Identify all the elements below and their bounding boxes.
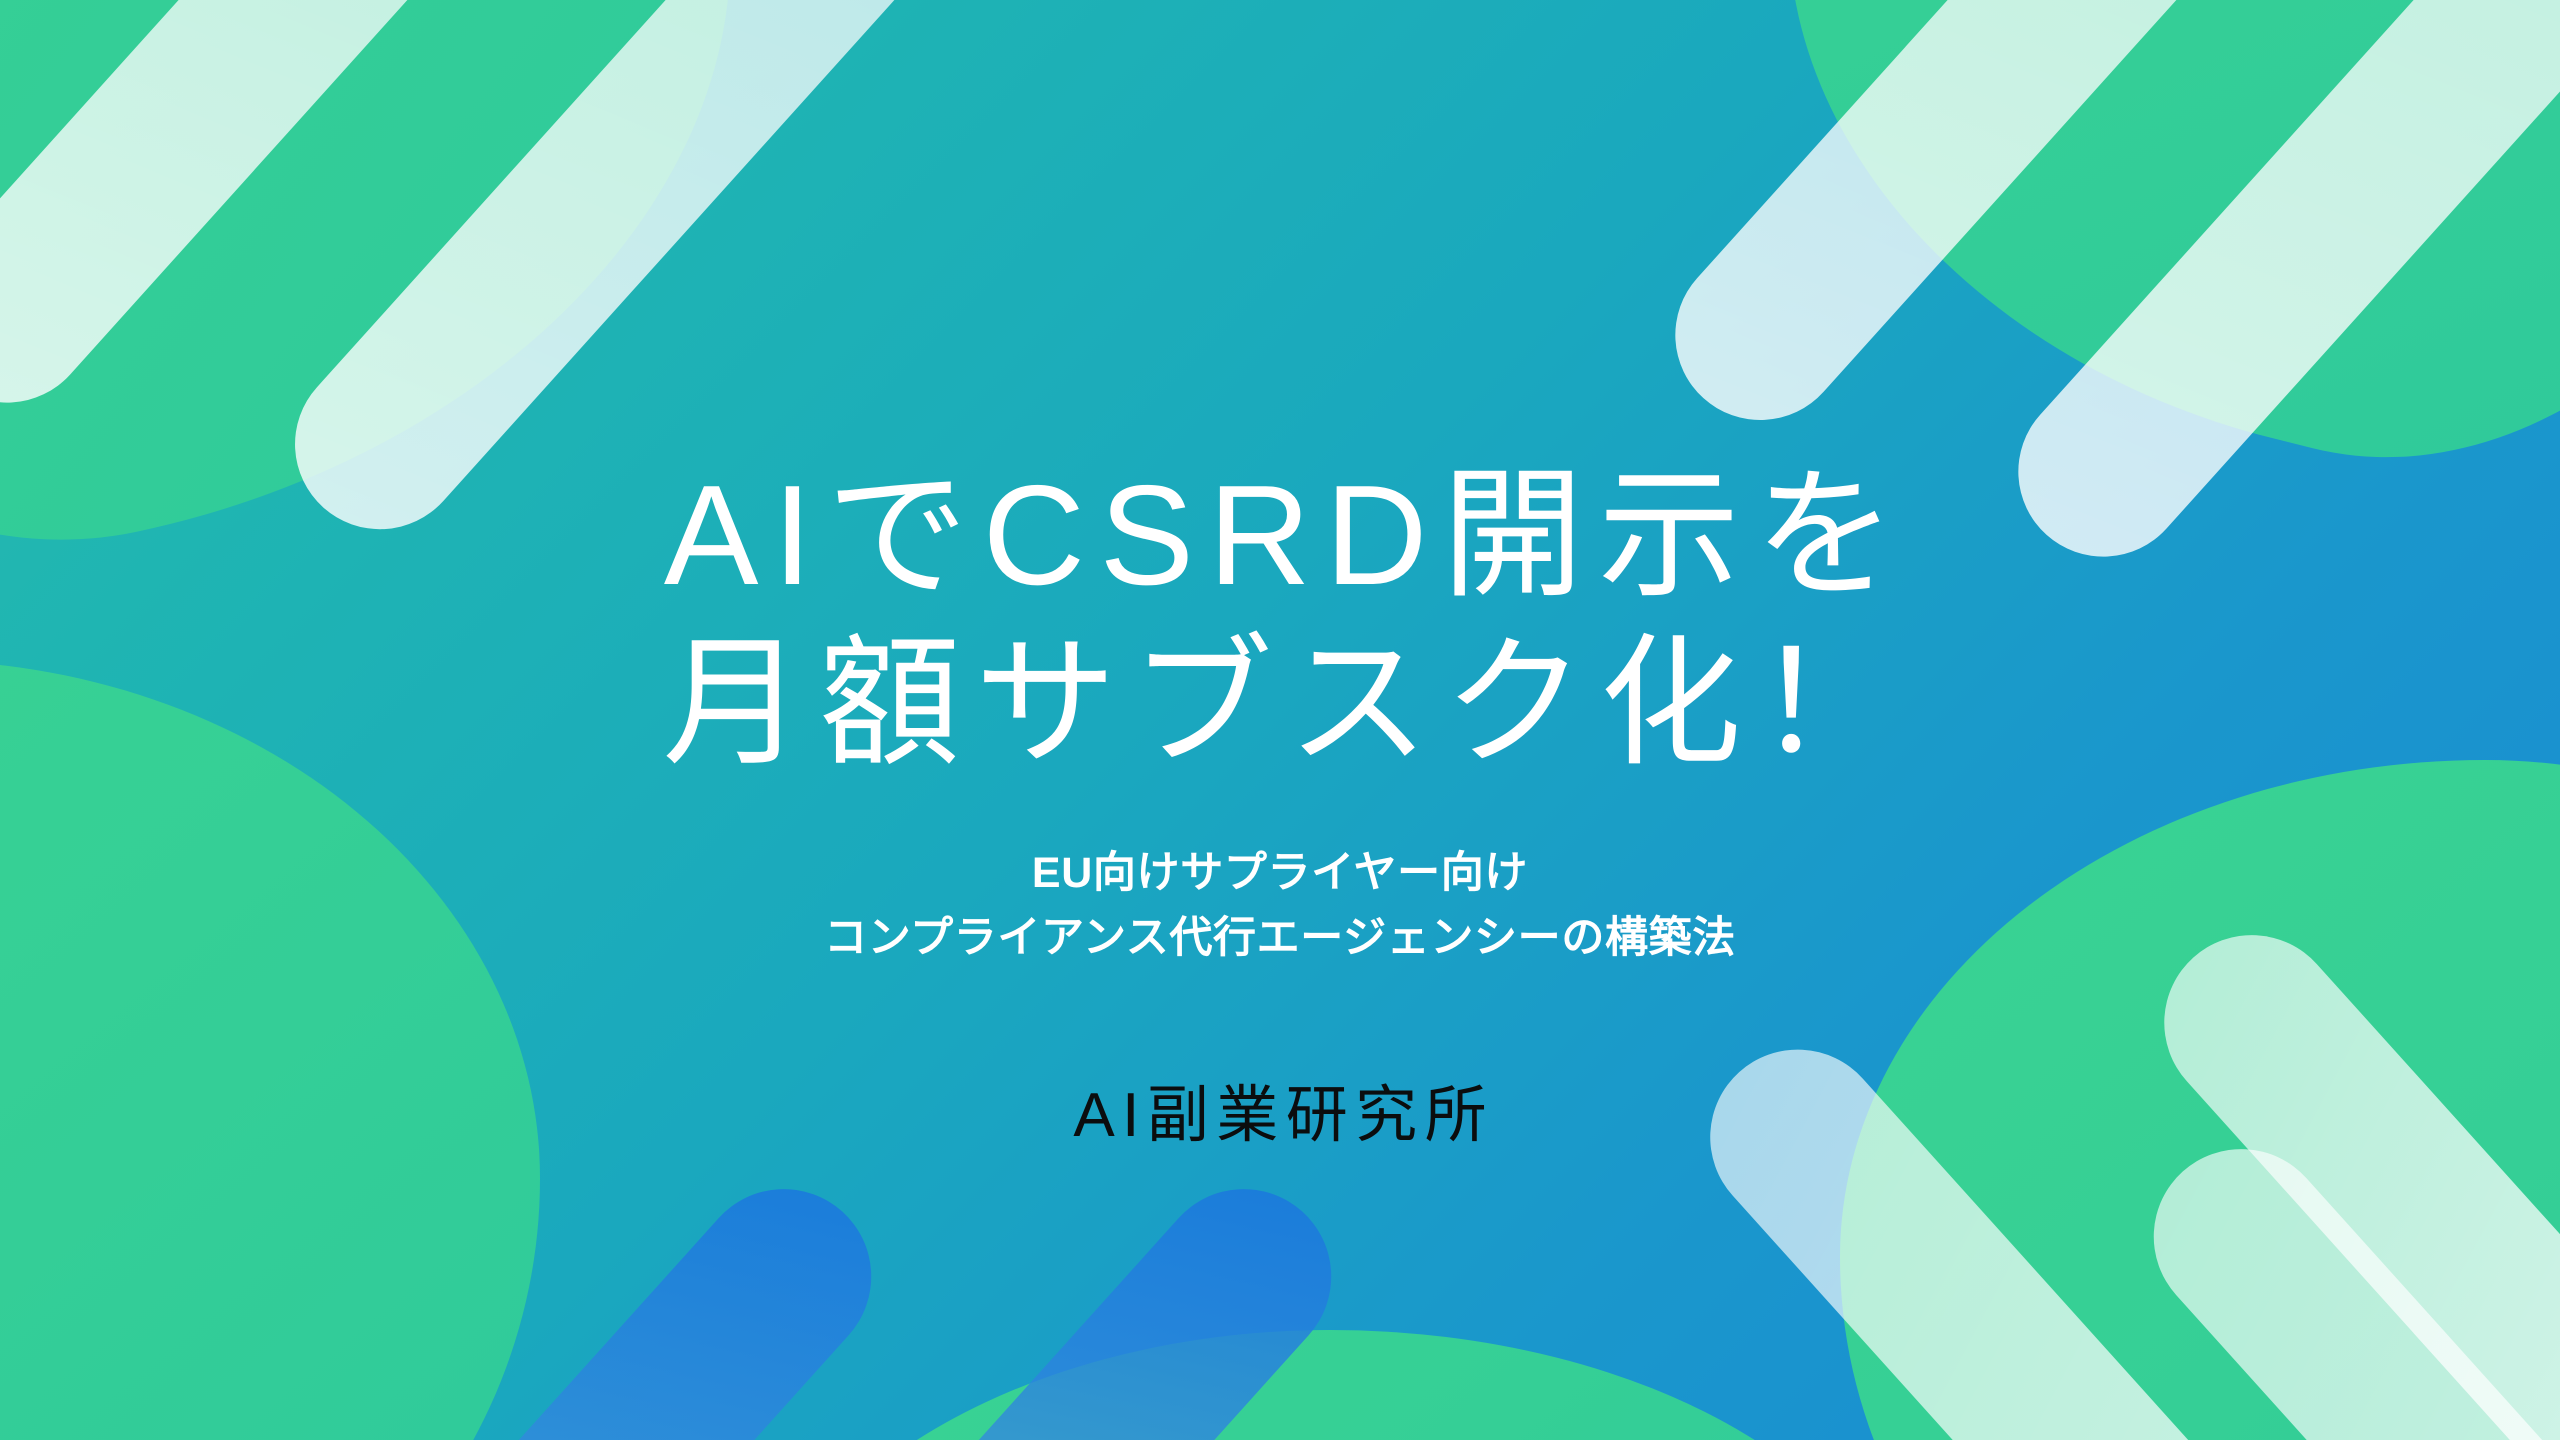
subtitle-line-2: コンプライアンス代行エージェンシーの構築法 (824, 906, 1736, 971)
title-line-2: 月額サブスク化！ (648, 620, 1912, 788)
page-title: AIでCSRD開示を 月額サブスク化！ (648, 452, 1912, 787)
title-line-1: AIでCSRD開示を (648, 452, 1912, 620)
subtitle-line-1: EU向けサプライヤー向け (824, 841, 1736, 906)
content-layer: AIでCSRD開示を 月額サブスク化！ EU向けサプライヤー向け コンプライアン… (0, 0, 2560, 1440)
brand-credit: AI副業研究所 (1066, 1064, 1494, 1154)
thumbnail-canvas: AIでCSRD開示を 月額サブスク化！ EU向けサプライヤー向け コンプライアン… (0, 0, 2560, 1440)
brand-name: AI副業研究所 (1066, 1064, 1494, 1154)
page-subtitle: EU向けサプライヤー向け コンプライアンス代行エージェンシーの構築法 (824, 841, 1736, 972)
